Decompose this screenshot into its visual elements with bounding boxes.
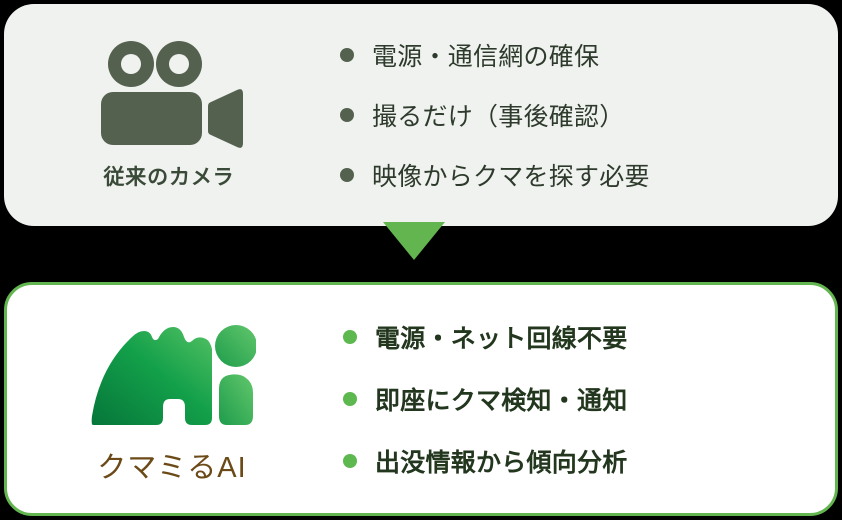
before-card-feature-list: 電源・通信網の確保 撮るだけ（事後確認） 映像からクマを探す必要 [334,25,838,205]
video-camera-icon [94,39,244,149]
list-item-label: 電源・ネット回線不要 [375,319,628,355]
list-item: 即座にクマ検知・通知 [343,368,835,430]
list-item: 出没情報から傾向分析 [343,430,835,492]
wordmark-text: クマミるAI [97,452,246,484]
bullet-dot-icon [340,168,354,182]
after-card-feature-list: 電源・ネット回線不要 即座にクマ検知・通知 出没情報から傾向分析 [337,306,835,492]
list-item: 電源・ネット回線不要 [343,306,835,368]
bullet-dot-icon [343,330,357,344]
before-card-caption: 従来のカメラ [103,161,234,191]
bullet-dot-icon [340,108,354,122]
arrow-down-icon [383,222,445,260]
bullet-dot-icon [343,454,357,468]
list-item-label: 即座にクマ検知・通知 [375,381,628,417]
after-card: クマミるAI 電源・ネット回線不要 即座にクマ検知・通知 出没情報から傾向分析 [4,282,838,516]
before-card-brand-column: 従来のカメラ [4,39,334,191]
list-item-label: 映像からクマを探す必要 [372,157,650,193]
list-item: 映像からクマを探す必要 [340,145,838,205]
bullet-dot-icon [343,392,357,406]
list-item-label: 撮るだけ（事後確認） [372,97,625,133]
kumamiru-ai-logo [87,314,257,439]
after-card-brand-column: クマミるAI [7,314,337,485]
bullet-dot-icon [340,48,354,62]
before-card: 従来のカメラ 電源・通信網の確保 撮るだけ（事後確認） 映像からクマを探す必要 [4,4,838,226]
list-item-label: 電源・通信網の確保 [372,37,599,73]
list-item: 撮るだけ（事後確認） [340,85,838,145]
list-item-label: 出没情報から傾向分析 [375,443,628,479]
list-item: 電源・通信網の確保 [340,25,838,85]
comparison-infographic: 従来のカメラ 電源・通信網の確保 撮るだけ（事後確認） 映像からクマを探す必要 [0,0,842,520]
kumamiru-ai-wordmark: クマミるAI [87,449,257,485]
